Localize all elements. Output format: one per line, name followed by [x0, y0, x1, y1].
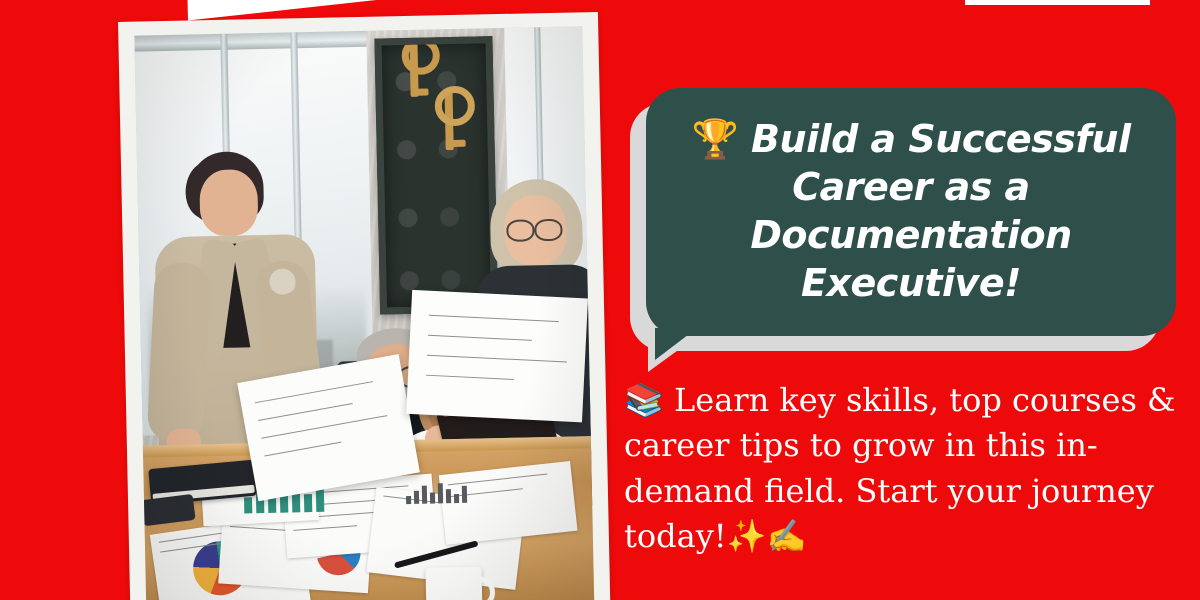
top-white-strip — [965, 0, 1150, 5]
headline-line-3: Documentation Executive! — [750, 213, 1071, 305]
headline-line-1: Build a Successful — [751, 117, 1130, 161]
photo-image — [134, 26, 594, 600]
promo-banner: 🏆 Build a Successful Career as a Documen… — [0, 0, 1200, 600]
trophy-icon: 🏆 — [691, 117, 738, 161]
wooden-table — [134, 435, 594, 600]
photo-frame — [118, 12, 610, 600]
speech-bubble: 🏆 Build a Successful Career as a Documen… — [646, 88, 1176, 336]
headline-line-2: Career as a — [792, 165, 1029, 209]
speech-bubble-tail — [655, 328, 697, 360]
books-icon: 📚 — [624, 381, 664, 419]
coffee-cup — [425, 567, 482, 600]
mini-bar-chart-graphic — [406, 481, 467, 504]
headline: 🏆 Build a Successful Career as a Documen… — [646, 116, 1176, 308]
held-document-top — [406, 290, 588, 422]
body-copy: 📚 Learn key skills, top courses & career… — [624, 378, 1184, 560]
sparkles-icon: ✨ — [727, 517, 767, 555]
writing-hand-icon: ✍️ — [766, 517, 806, 555]
decorative-wall-panel — [374, 36, 498, 314]
body-text: Learn key skills, top courses & career t… — [624, 381, 1176, 555]
photo-card — [118, 12, 610, 600]
